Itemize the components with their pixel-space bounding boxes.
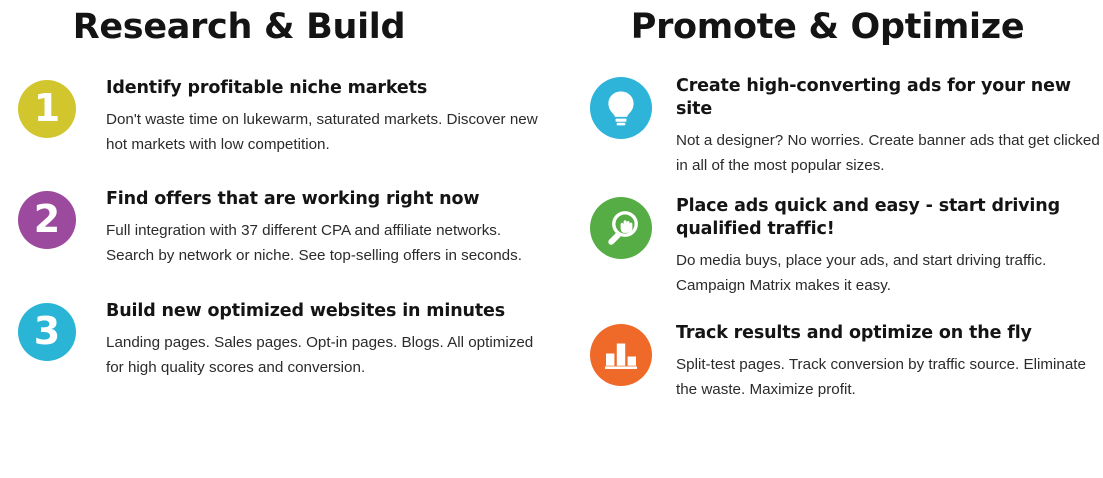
column-promote-optimize: Promote & Optimize Create high-convertin… [570, 0, 1103, 478]
feature-item: Place ads quick and easy - start driving… [570, 195, 1103, 298]
feature-description: Not a designer? No worries. Create banne… [676, 128, 1103, 178]
column-heading-promote-optimize: Promote & Optimize [570, 0, 1103, 47]
feature-text: Place ads quick and easy - start driving… [676, 195, 1103, 298]
badge-number: 3 [34, 312, 60, 350]
columns-wrapper: Research & Build 1 Identify profitable n… [0, 0, 1103, 478]
feature-description: Landing pages. Sales pages. Opt-in pages… [106, 330, 546, 380]
feature-comparison-panel: Research & Build 1 Identify profitable n… [0, 0, 1103, 478]
number-three-badge: 3 [18, 303, 76, 361]
feature-title: Find offers that are working right now [106, 188, 546, 211]
feature-list-promote-optimize: Create high-converting ads for your new … [570, 75, 1103, 402]
feature-title: Create high-converting ads for your new … [676, 75, 1103, 121]
feature-item: 1 Identify profitable niche markets Don'… [0, 77, 570, 157]
lightbulb-icon [590, 77, 652, 139]
feature-title: Place ads quick and easy - start driving… [676, 195, 1103, 241]
feature-title: Track results and optimize on the fly [676, 322, 1103, 345]
feature-text: Identify profitable niche markets Don't … [106, 77, 546, 157]
feature-text: Track results and optimize on the fly Sp… [676, 322, 1103, 402]
column-heading-research-build: Research & Build [0, 0, 570, 47]
feature-description: Split-test pages. Track conversion by tr… [676, 352, 1103, 402]
bar-chart-icon [590, 324, 652, 386]
badge-number: 2 [34, 200, 60, 238]
feature-item: Create high-converting ads for your new … [570, 75, 1103, 178]
feature-list-research-build: 1 Identify profitable niche markets Don'… [0, 77, 570, 380]
number-two-badge: 2 [18, 191, 76, 249]
feature-text: Create high-converting ads for your new … [676, 75, 1103, 178]
magnifier-click-icon [590, 197, 652, 259]
feature-title: Identify profitable niche markets [106, 77, 546, 100]
feature-description: Don't waste time on lukewarm, saturated … [106, 107, 546, 157]
feature-item: 2 Find offers that are working right now… [0, 188, 570, 268]
badge-number: 1 [34, 89, 60, 127]
feature-text: Find offers that are working right now F… [106, 188, 546, 268]
feature-title: Build new optimized websites in minutes [106, 300, 546, 323]
feature-item: 3 Build new optimized websites in minute… [0, 300, 570, 380]
feature-description: Do media buys, place your ads, and start… [676, 248, 1103, 298]
number-one-badge: 1 [18, 80, 76, 138]
feature-description: Full integration with 37 different CPA a… [106, 218, 546, 268]
column-research-build: Research & Build 1 Identify profitable n… [0, 0, 570, 478]
feature-text: Build new optimized websites in minutes … [106, 300, 546, 380]
feature-item: Track results and optimize on the fly Sp… [570, 322, 1103, 402]
